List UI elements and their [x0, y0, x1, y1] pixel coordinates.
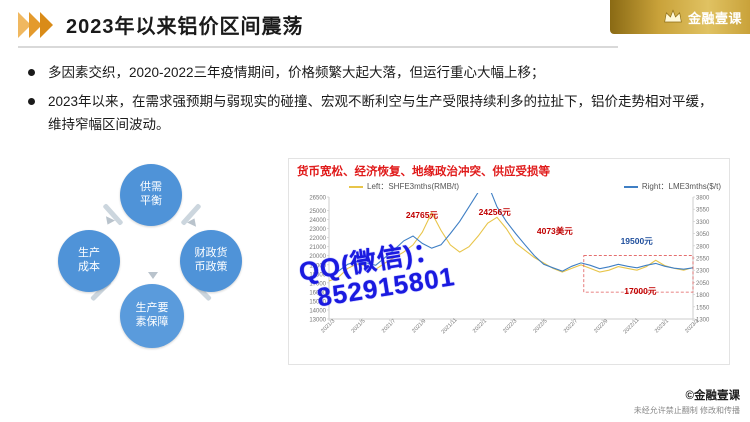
bullet-dot-icon	[28, 69, 35, 76]
diagram-node-production-cost: 生产 成本	[58, 230, 120, 292]
legend-item-lme: Right：LME3mths($/t)	[624, 181, 721, 192]
svg-text:1550: 1550	[696, 305, 710, 311]
diagram-node-label: 供需 平衡	[140, 181, 162, 209]
diagram-node-fiscal-policy: 财政货 币政策	[180, 230, 242, 292]
svg-text:2550: 2550	[696, 257, 710, 263]
svg-text:21000: 21000	[309, 245, 326, 251]
slide-header: 2023年以来铝价区间震荡 金融壹课	[0, 0, 750, 52]
svg-text:3550: 3550	[696, 208, 710, 214]
svg-text:2800: 2800	[696, 244, 710, 250]
svg-text:2022/11: 2022/11	[623, 317, 641, 335]
svg-text:13000: 13000	[309, 318, 326, 324]
svg-text:2021/9: 2021/9	[411, 318, 427, 334]
svg-text:14000: 14000	[309, 308, 326, 314]
svg-text:2021/5: 2021/5	[351, 318, 367, 334]
svg-text:3800: 3800	[696, 196, 710, 202]
svg-text:18000: 18000	[309, 272, 326, 278]
svg-text:22000: 22000	[309, 236, 326, 242]
chart-annotation: 24765元	[406, 209, 438, 221]
chart-annotation: 4073美元	[537, 225, 573, 237]
svg-text:2023/3: 2023/3	[684, 318, 700, 334]
chevron-arrows-icon	[18, 12, 58, 38]
svg-text:15000: 15000	[309, 299, 326, 305]
svg-text:2023/1: 2023/1	[654, 318, 670, 334]
svg-text:23000: 23000	[309, 227, 326, 233]
chart-annotation: 17000元	[624, 285, 656, 297]
diagram-node-label: 财政货 币政策	[195, 247, 228, 275]
legend-item-shfe: Left：SHFE3mths(RMB/t)	[349, 181, 459, 192]
crown-icon	[663, 7, 683, 27]
bullet-text: 多因素交织，2020-2022三年疫情期间，价格频繁大起大落，但运行重心大幅上移…	[48, 65, 545, 80]
chart-legend: Left：SHFE3mths(RMB/t) Right：LME3mths($/t…	[349, 181, 721, 192]
legend-swatch	[349, 186, 363, 188]
svg-text:20000: 20000	[309, 254, 326, 260]
svg-text:17000: 17000	[309, 281, 326, 287]
chart-annotation: 19500元	[621, 235, 653, 247]
svg-text:3050: 3050	[696, 232, 710, 238]
brand-logo-text: 金融壹课	[688, 8, 742, 27]
chart-title: 货币宽松、经济恢复、地缘政治冲突、供应受损等	[297, 163, 550, 179]
bullet-text: 2023年以来，在需求强预期与弱现实的碰撞、宏观不断利空与生产受限持续利多的拉扯…	[48, 94, 713, 131]
footer: ©金融壹课 未经允许禁止翻制 修改和传播	[634, 387, 740, 416]
svg-text:2022/5: 2022/5	[533, 318, 549, 334]
svg-text:3300: 3300	[696, 220, 710, 226]
svg-text:2022/3: 2022/3	[502, 318, 518, 334]
arrow-icon	[148, 272, 158, 279]
svg-text:16000: 16000	[309, 290, 326, 296]
arrow-icon	[187, 216, 199, 227]
legend-label: Right：LME3mths($/t)	[642, 181, 721, 192]
legend-label: Left：SHFE3mths(RMB/t)	[367, 181, 459, 192]
bullet-list: 多因素交织，2020-2022三年疫情期间，价格频繁大起大落，但运行重心大幅上移…	[26, 62, 726, 143]
cycle-diagram: 供需 平衡 生产 成本 财政货 币政策 生产要 素保障	[28, 160, 278, 350]
list-item: 多因素交织，2020-2022三年疫情期间，价格频繁大起大落，但运行重心大幅上移…	[26, 62, 726, 84]
list-item: 2023年以来，在需求强预期与弱现实的碰撞、宏观不断利空与生产受限持续利多的拉扯…	[26, 91, 726, 136]
diagram-node-factor-supply: 生产要 素保障	[120, 284, 184, 348]
svg-text:2022/9: 2022/9	[593, 318, 609, 334]
footer-brand: ©金融壹课	[634, 387, 740, 403]
svg-text:24000: 24000	[309, 218, 326, 224]
svg-text:25000: 25000	[309, 209, 326, 215]
diagram-node-supply-demand: 供需 平衡	[120, 164, 182, 226]
svg-text:1800: 1800	[696, 293, 710, 299]
svg-text:26500: 26500	[309, 196, 326, 202]
legend-swatch	[624, 186, 638, 188]
page-title: 2023年以来铝价区间震荡	[66, 10, 304, 39]
brand-logo: 金融壹课	[610, 0, 750, 34]
svg-text:2050: 2050	[696, 281, 710, 287]
svg-text:2021/11: 2021/11	[441, 317, 459, 335]
svg-text:2300: 2300	[696, 269, 710, 275]
price-chart: 货币宽松、经济恢复、地缘政治冲突、供应受损等 Left：SHFE3mths(RM…	[288, 158, 730, 365]
svg-text:2022/7: 2022/7	[563, 318, 579, 334]
svg-text:2021/7: 2021/7	[381, 318, 397, 334]
svg-text:2022/1: 2022/1	[472, 318, 488, 334]
chart-annotation: 24256元	[479, 206, 511, 218]
slide: 2023年以来铝价区间震荡 金融壹课 多因素交织，2020-2022三年疫情期间…	[0, 0, 750, 422]
bullet-dot-icon	[28, 98, 35, 105]
footer-copyright: 未经允许禁止翻制 修改和传播	[634, 405, 740, 416]
diagram-node-label: 生产 成本	[78, 247, 100, 275]
svg-text:19000: 19000	[309, 263, 326, 269]
title-divider	[18, 46, 618, 48]
diagram-node-label: 生产要 素保障	[136, 302, 169, 330]
